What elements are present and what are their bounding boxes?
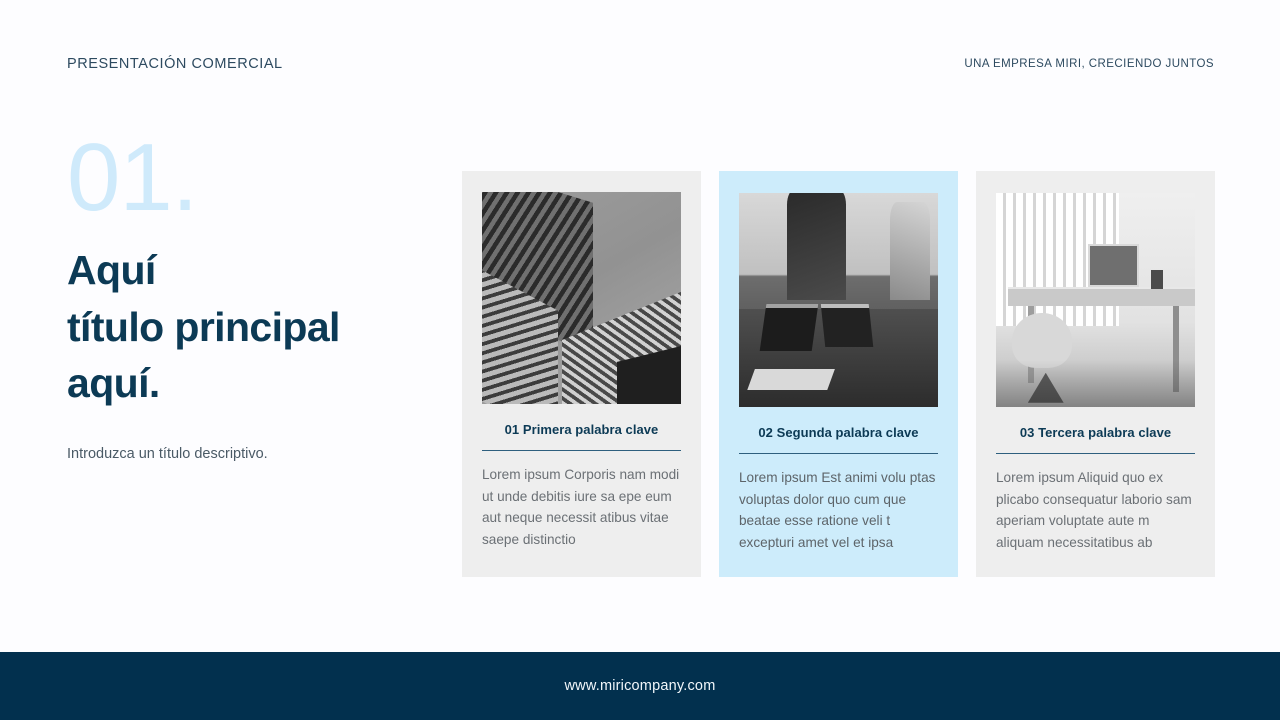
card-title-1: 01 Primera palabra clave — [482, 422, 681, 438]
feature-card-3[interactable]: 03 Tercera palabra clave Lorem ipsum Ali… — [976, 171, 1215, 577]
card-image-1 — [482, 192, 681, 404]
footer-website-url[interactable]: www.miricompany.com — [565, 678, 716, 694]
card-body-2: Lorem ipsum Est animi volu ptas voluptas… — [739, 467, 938, 577]
card-divider-1 — [482, 450, 681, 452]
page-title-line-2: título principal — [67, 299, 447, 356]
feature-card-2[interactable]: 02 Segunda palabra clave Lorem ipsum Est… — [719, 171, 958, 577]
card-title-2: 02 Segunda palabra clave — [739, 425, 938, 441]
slide-header: PRESENTACIÓN COMERCIAL UNA EMPRESA MIRI,… — [0, 52, 1280, 76]
card-divider-2 — [739, 453, 938, 455]
page-subtitle: Introduzca un título descriptivo. — [67, 444, 447, 464]
page-title-line-3: aquí. — [67, 355, 447, 412]
page-title: Aquí título principal aquí. — [67, 242, 447, 412]
feature-card-list: 01 Primera palabra clave Lorem ipsum Cor… — [462, 171, 1215, 577]
section-number: 01. — [67, 132, 447, 224]
card-divider-3 — [996, 453, 1195, 455]
header-eyebrow-left: PRESENTACIÓN COMERCIAL — [67, 56, 283, 72]
card-body-1: Lorem ipsum Corporis nam modi ut unde de… — [482, 464, 681, 574]
slide-root: PRESENTACIÓN COMERCIAL UNA EMPRESA MIRI,… — [0, 0, 1280, 720]
card-image-3 — [996, 193, 1195, 407]
left-column: 01. Aquí título principal aquí. Introduz… — [67, 132, 447, 464]
slide-footer: www.miricompany.com — [0, 652, 1280, 720]
page-title-line-1: Aquí — [67, 242, 447, 299]
header-eyebrow-right: UNA EMPRESA MIRI, CRECIENDO JUNTOS — [964, 58, 1214, 70]
card-title-3: 03 Tercera palabra clave — [996, 425, 1195, 441]
feature-card-1[interactable]: 01 Primera palabra clave Lorem ipsum Cor… — [462, 171, 701, 577]
card-body-3: Lorem ipsum Aliquid quo ex plicabo conse… — [996, 467, 1195, 577]
card-image-2 — [739, 193, 938, 407]
